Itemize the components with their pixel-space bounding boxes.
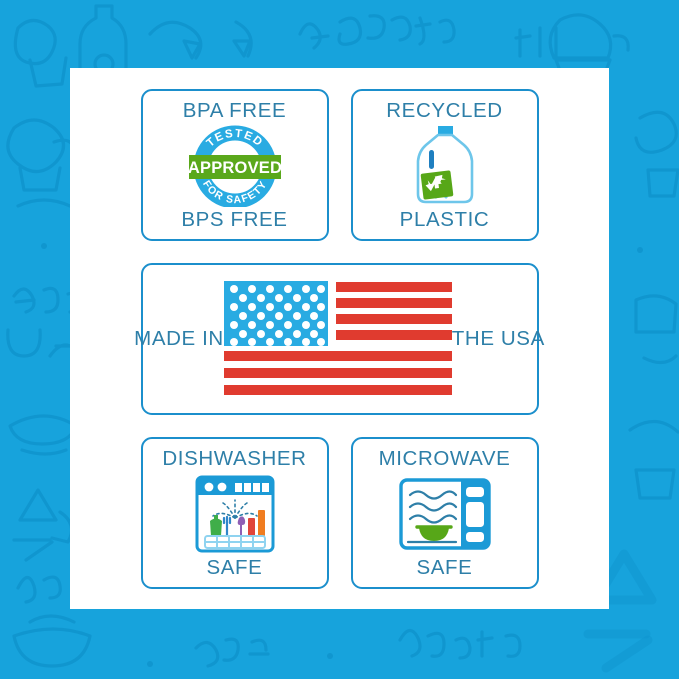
microwave-icon — [399, 470, 491, 558]
card-microwave-safe[interactable]: MICROWAVE — [351, 437, 539, 589]
card-dishwasher-top-label: DISHWASHER — [162, 449, 306, 470]
dishwasher-icon — [194, 470, 276, 558]
card-bpa-free-bottom-label: BPS FREE — [181, 210, 287, 231]
badge-center-text: APPROVED — [187, 159, 281, 177]
card-bpa-free[interactable]: BPA FREE TESTED FOR SAFETY — [141, 89, 329, 241]
badge-row-bottom: DISHWASHER — [141, 437, 539, 589]
badge-row-top: BPA FREE TESTED FOR SAFETY — [141, 89, 539, 241]
card-made-in-usa-left-label: MADE IN — [134, 329, 224, 350]
card-bpa-free-top-label: BPA FREE — [183, 101, 287, 122]
recycled-jug-icon — [405, 122, 485, 210]
badge-bottom-text: FOR SAFETY — [200, 178, 270, 206]
approved-seal-icon: TESTED FOR SAFETY APPROVED — [183, 122, 287, 210]
feature-badge-grid: BPA FREE TESTED FOR SAFETY — [70, 68, 609, 609]
card-dishwasher-safe[interactable]: DISHWASHER — [141, 437, 329, 589]
card-made-in-usa-right-label: THE USA — [452, 329, 545, 350]
card-microwave-top-label: MICROWAVE — [379, 449, 511, 470]
card-made-in-usa[interactable]: MADE IN — [141, 263, 539, 415]
card-dishwasher-bottom-label: SAFE — [207, 558, 263, 579]
card-recycled-plastic[interactable]: RECYCLED PLASTIC — [351, 89, 539, 241]
white-content-panel: BPA FREE TESTED FOR SAFETY — [70, 68, 609, 609]
usa-flag-icon — [224, 281, 452, 398]
card-recycled-plastic-bottom-label: PLASTIC — [400, 210, 490, 231]
svg-text:FOR SAFETY: FOR SAFETY — [200, 178, 270, 206]
card-recycled-plastic-top-label: RECYCLED — [386, 101, 502, 122]
card-microwave-bottom-label: SAFE — [417, 558, 473, 579]
badge-row-middle: MADE IN — [141, 263, 539, 415]
